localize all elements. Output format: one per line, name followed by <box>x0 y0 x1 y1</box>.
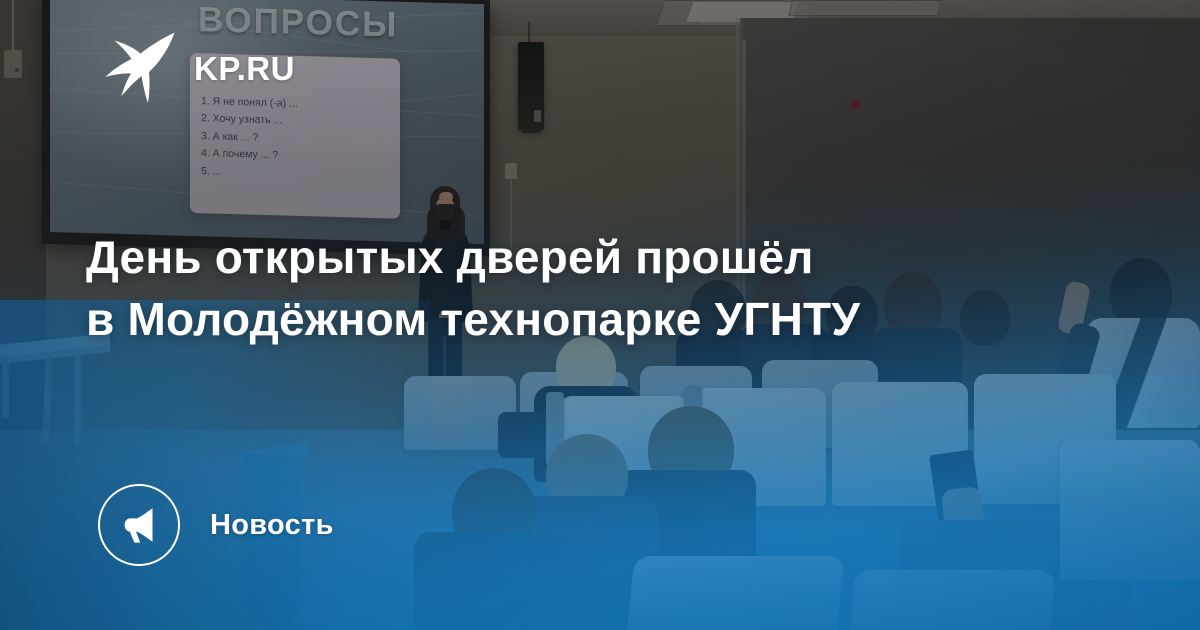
page-title: День открытых дверей прошёл в Молодёжном… <box>86 226 1126 350</box>
badge-label: Новость <box>210 509 334 542</box>
news-share-card: ВОПРОСЫ 1. Я не понял (-а) ... 2. Хочу у… <box>0 0 1200 630</box>
swallow-bird-icon <box>104 26 178 106</box>
megaphone-icon <box>118 504 160 546</box>
brand-name: KP.RU <box>194 48 295 85</box>
headline-line-1: День открытых дверей прошёл <box>86 226 1126 288</box>
brand-logo[interactable]: KP.RU <box>104 26 295 106</box>
status-badge[interactable]: Новость <box>98 484 334 566</box>
headline-line-2: в Молодёжном технопарке УГНТУ <box>86 288 1126 350</box>
badge-circle <box>98 484 180 566</box>
